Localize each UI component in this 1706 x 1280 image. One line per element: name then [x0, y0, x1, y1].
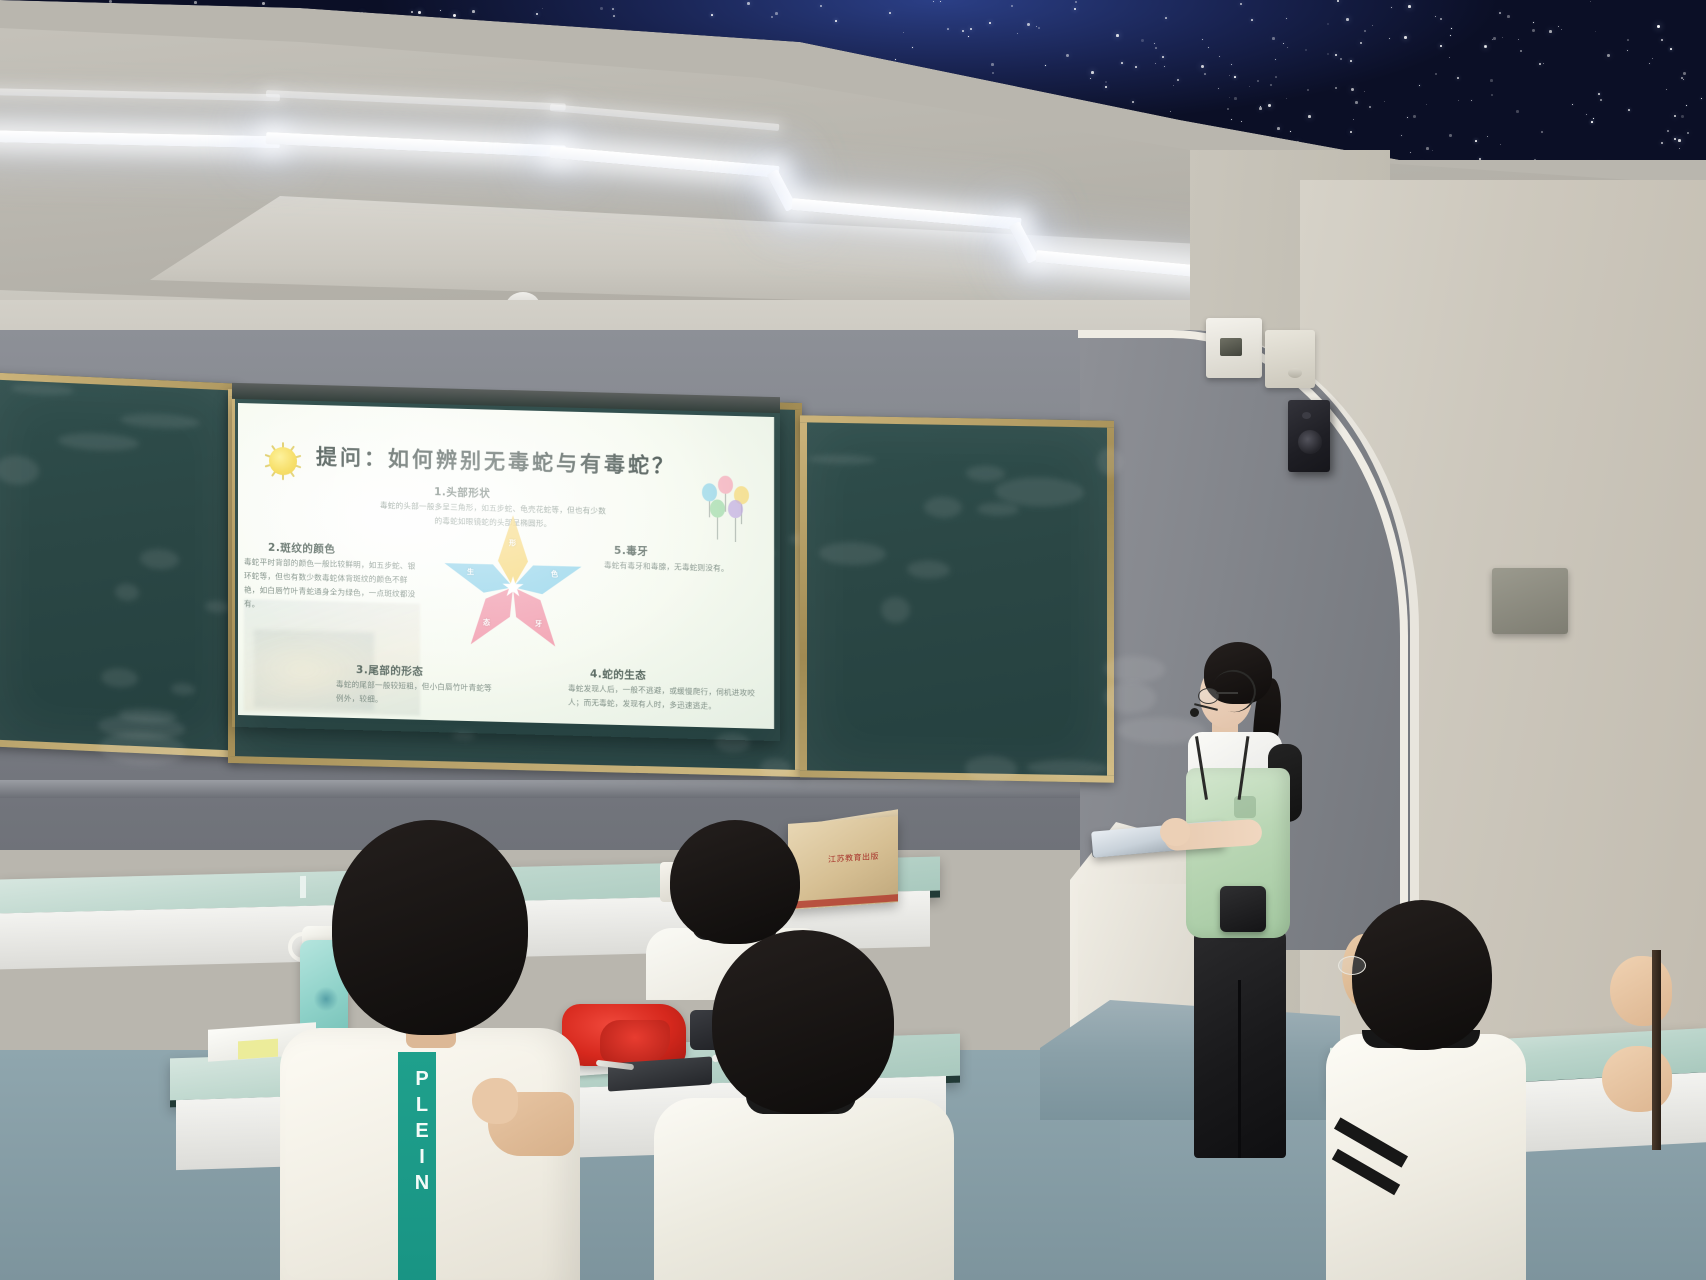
wall-control-box-right	[1265, 330, 1315, 388]
slide-heading-1: 1.头部形状	[434, 484, 490, 500]
slide-heading-4: 4.蛇的生态	[590, 666, 646, 682]
student-right-glasses	[1326, 900, 1546, 1280]
slide-body-4: 毒蛇发现人后，一般不逃避，或缓慢爬行，伺机进攻咬人；而无毒蛇，发现有人时，多迅速…	[568, 682, 758, 715]
chalk-rail	[0, 780, 1110, 798]
student-front-left: PLEIN	[256, 820, 596, 1280]
left-blackboard-panel	[0, 372, 238, 757]
projected-slide: 提问：如何辨别无毒蛇与有毒蛇？ 1.头部形状 毒蛇的头部一般多呈三角形，如五步蛇…	[238, 403, 774, 729]
student-front-left-head	[332, 820, 528, 1035]
slide-heading-3: 3.尾部的形态	[356, 662, 423, 679]
slide-heading-2: 2.斑纹的颜色	[268, 540, 335, 557]
student-right-torso	[1326, 1034, 1526, 1280]
speaker-cone	[1298, 430, 1322, 454]
led-cove-light-strip	[0, 22, 1706, 202]
eyeglasses-temple	[1216, 692, 1238, 694]
right-blackboard-panel	[800, 415, 1114, 782]
eyeglasses	[1198, 688, 1219, 704]
slide-body-2: 毒蛇平时背部的颜色一般比较鲜明，如五步蛇、银环蛇等，但也有数少数毒蛇体背斑纹的颜…	[244, 555, 422, 616]
teacher-hand	[1160, 818, 1190, 846]
student-right-head	[1352, 900, 1492, 1050]
slide-body-3: 毒蛇的尾部一般较短粗，但小白唇竹叶青蛇等例外，较细。	[336, 678, 496, 710]
eyeglasses	[1338, 956, 1366, 975]
balloons-decoration	[696, 469, 756, 523]
hand-lower	[1602, 1046, 1672, 1112]
wall-control-box-knob	[1288, 368, 1302, 378]
headset-microphone	[1190, 708, 1199, 717]
tshirt-brand-text: PLEIN	[402, 1068, 432, 1198]
slide-title: 提问：如何辨别无毒蛇与有毒蛇？	[316, 441, 736, 482]
hand-upper	[1610, 956, 1672, 1026]
classroom-photo: 提问：如何辨别无毒蛇与有毒蛇？ 1.头部形状 毒蛇的头部一般多呈三角形，如五步蛇…	[0, 0, 1706, 1280]
student-hands-right-edge	[1600, 950, 1706, 1150]
pole-held	[1652, 950, 1661, 1150]
wall-control-panel[interactable]	[1492, 568, 1568, 634]
speaker-tweeter	[1302, 412, 1311, 419]
slide-heading-5: 5.毒牙	[614, 543, 648, 559]
sun-core	[269, 447, 297, 476]
student-front-center	[640, 930, 970, 1280]
waist-pouch	[1220, 886, 1266, 932]
slide-body-5: 毒蛇有毒牙和毒腺，无毒蛇则没有。	[604, 559, 754, 577]
star-puzzle-diagram: 形色牙态生	[434, 512, 594, 666]
student-front-center-torso	[654, 1098, 954, 1280]
student-front-center-head	[712, 930, 894, 1114]
projection-screen: 提问：如何辨别无毒蛇与有毒蛇？ 1.头部形状 毒蛇的头部一般多呈三角形，如五步蛇…	[232, 397, 780, 741]
sun-icon	[260, 438, 306, 485]
teacher-trouser-seam	[1238, 980, 1241, 1158]
wall-control-box-left-window	[1220, 338, 1242, 356]
student-back-center-head	[670, 820, 800, 944]
student-front-left-hand	[472, 1078, 518, 1124]
